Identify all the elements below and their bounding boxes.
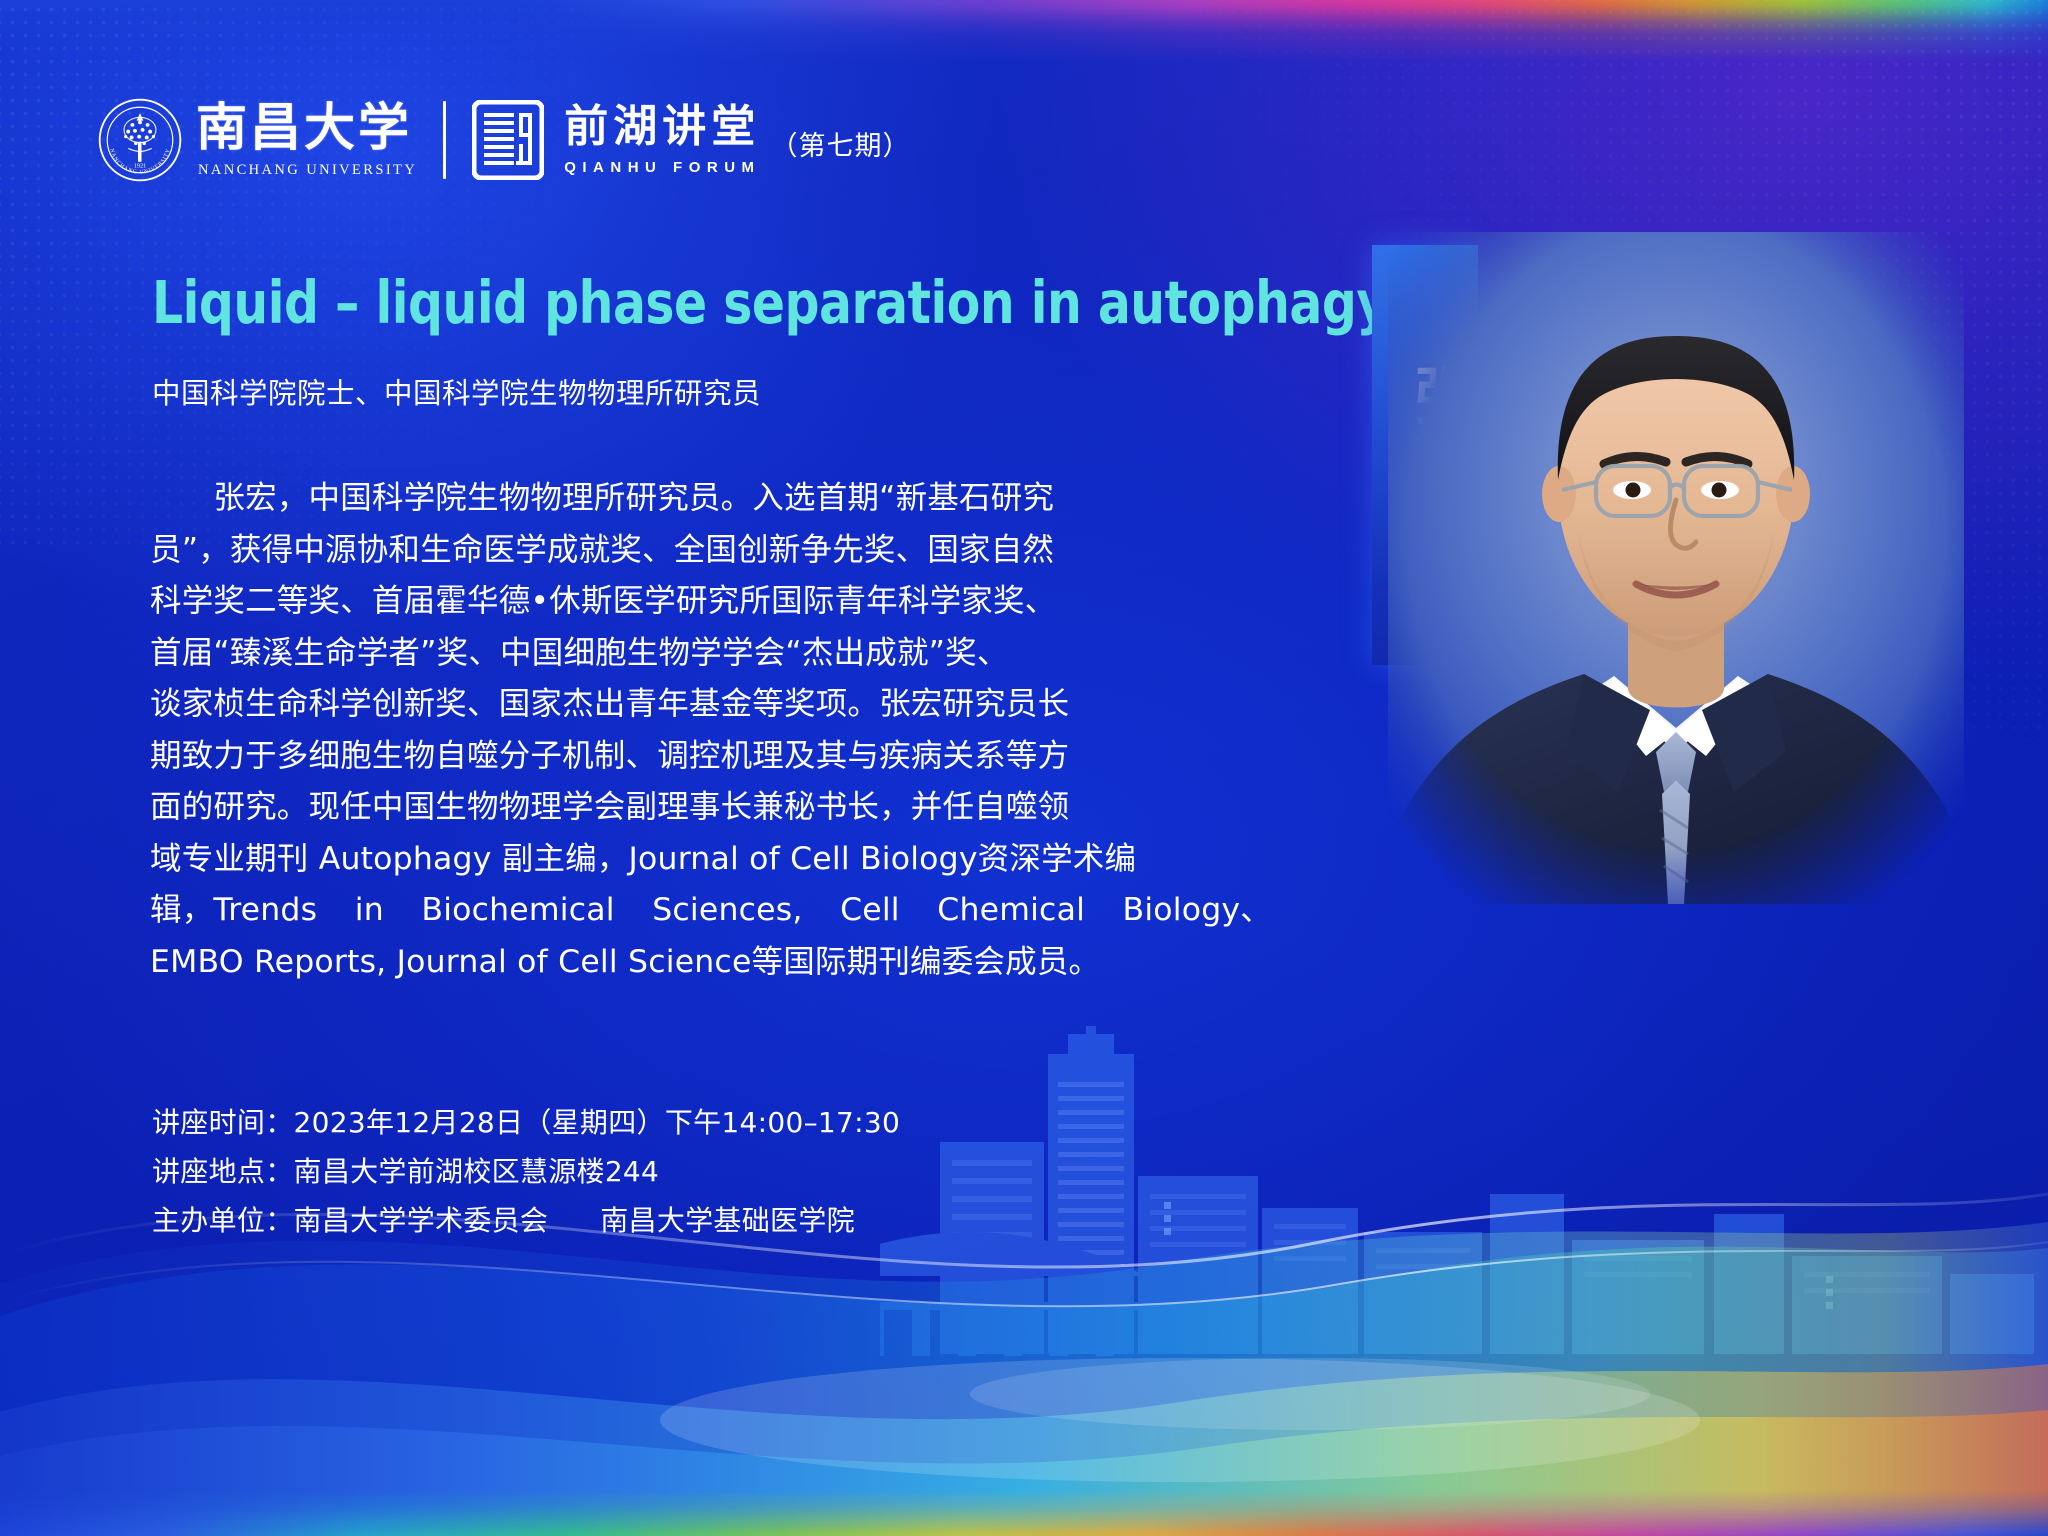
bio-line: 面的研究。现任中国生物物理学会副理事长兼秘书长，并任自噬领 <box>150 782 1272 834</box>
university-name-cn: 南昌大学 <box>196 103 417 154</box>
seal-year: 1921 <box>134 163 147 170</box>
header-divider <box>443 101 446 179</box>
university-seal-icon: 1921 NANCHANG UNIVERSITY <box>98 98 182 182</box>
poster-root: 1921 NANCHANG UNIVERSITY 南昌大学 NANCHANG U… <box>0 0 2048 1536</box>
forum-name-en: QIANHU FORUM <box>564 160 760 175</box>
speaker-photo <box>1388 232 1964 904</box>
event-details: 讲座时间：2023年12月28日（星期四）下午14:00–17:30 讲座地点：… <box>152 1098 900 1245</box>
rainbow-bottom-strip <box>0 1490 2048 1536</box>
bio-word: Chemical <box>937 885 1085 937</box>
talk-title: Liquid – liquid phase separation in auto… <box>152 268 1388 337</box>
event-host-row: 主办单位：南昌大学学术委员会南昌大学基础医学院 <box>152 1196 900 1245</box>
qianhu-forum-mark-icon <box>472 100 544 180</box>
bio-line: 谈家桢生命科学创新奖、国家杰出青年基金等奖项。张宏研究员长 <box>150 679 1272 731</box>
bio-word: Biology、 <box>1123 885 1272 937</box>
university-name-en: NANCHANG UNIVERSITY <box>198 163 417 178</box>
bio-line: 张宏，中国科学院生物物理所研究员。入选首期“新基石研究 <box>150 473 1272 525</box>
poster-header: 1921 NANCHANG UNIVERSITY 南昌大学 NANCHANG U… <box>98 98 911 182</box>
event-host-value-2: 南昌大学基础医学院 <box>600 1204 855 1237</box>
forum-issue-label: （第七期） <box>771 118 911 163</box>
event-time-label: 讲座时间： <box>152 1106 294 1139</box>
speaker-bio: 张宏，中国科学院生物物理所研究员。入选首期“新基石研究 员”，获得中源协和生命医… <box>150 473 1272 988</box>
bio-line: EMBO Reports, Journal of Cell Science等国际… <box>150 937 1272 989</box>
forum-name-cn: 前湖讲堂 <box>564 105 760 149</box>
forum-wordmark: 前湖讲堂 QIANHU FORUM <box>564 105 760 175</box>
event-place-value: 南昌大学前湖校区慧源楼244 <box>294 1155 660 1188</box>
bio-line: 员”，获得中源协和生命医学成就奖、全国创新争先奖、国家自然 <box>150 525 1272 577</box>
speaker-portrait-image <box>1388 232 1964 904</box>
bio-word: Cell <box>840 885 900 937</box>
talk-subtitle: 中国科学院院士、中国科学院生物物理所研究员 <box>152 371 761 412</box>
rainbow-top-strip-accent <box>0 0 2048 22</box>
bio-line: 科学奖二等奖、首届霍华德•休斯医学研究所国际青年科学家奖、 <box>150 576 1272 628</box>
bio-line-justified: 辑，Trends in Biochemical Sciences, Cell C… <box>150 885 1272 937</box>
event-place-row: 讲座地点：南昌大学前湖校区慧源楼244 <box>152 1147 900 1196</box>
bio-line: 期致力于多细胞生物自噬分子机制、调控机理及其与疾病关系等方 <box>150 731 1272 783</box>
campus-skyline-illustration <box>880 1026 2048 1356</box>
event-place-label: 讲座地点： <box>152 1155 294 1188</box>
university-wordmark: 南昌大学 NANCHANG UNIVERSITY <box>182 103 417 178</box>
event-host-label: 主办单位： <box>152 1204 294 1237</box>
bottom-wave-decoration <box>0 1016 2048 1536</box>
bio-line: 域专业期刊 Autophagy 副主编，Journal of Cell Biol… <box>150 834 1272 886</box>
bio-word: Sciences, <box>652 885 802 937</box>
bio-word: 辑，Trends <box>150 885 317 937</box>
event-host-value-1: 南昌大学学术委员会 <box>294 1204 549 1237</box>
bio-word: in <box>355 885 384 937</box>
event-time-value: 2023年12月28日（星期四）下午14:00–17:30 <box>294 1106 901 1139</box>
bio-word: Biochemical <box>421 885 614 937</box>
bio-line: 首届“臻溪生命学者”奖、中国细胞生物学学会“杰出成就”奖、 <box>150 628 1272 680</box>
event-time-row: 讲座时间：2023年12月28日（星期四）下午14:00–17:30 <box>152 1098 900 1147</box>
